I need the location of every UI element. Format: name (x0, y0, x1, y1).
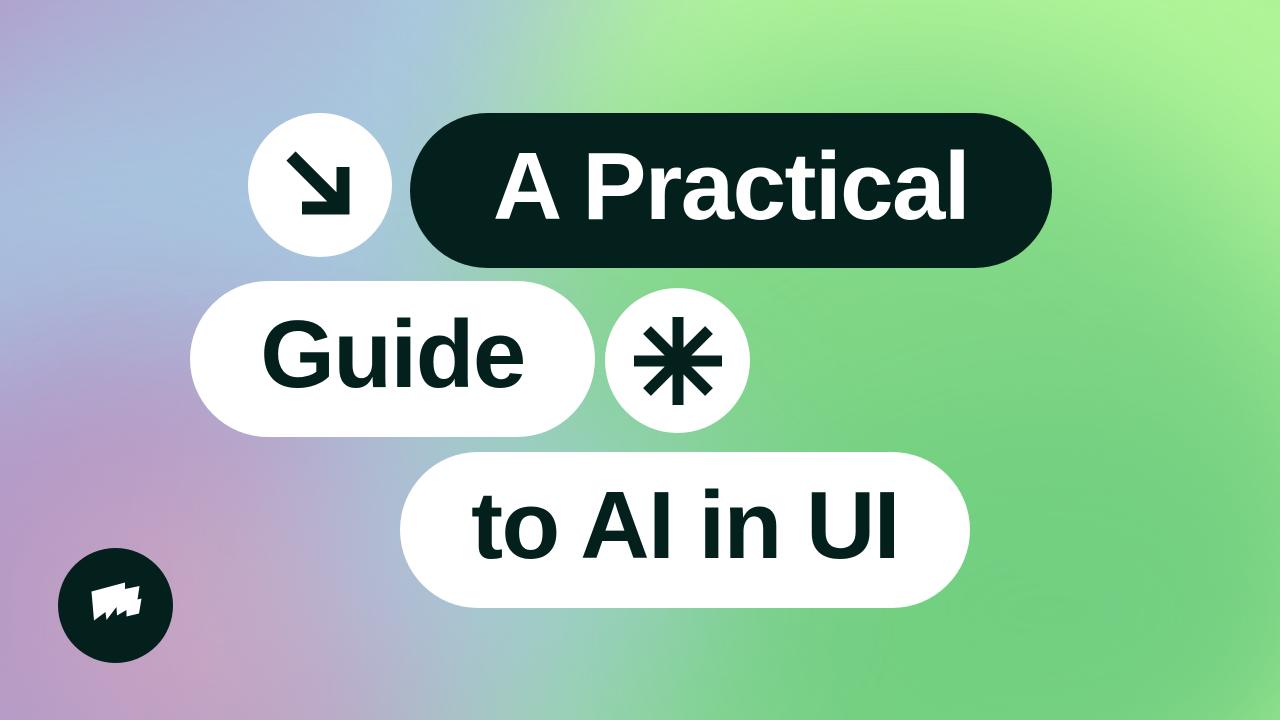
headline-line-2: Guide (190, 281, 595, 437)
lightning-bolt-icon (83, 573, 149, 639)
headline-line-3-text: to AI in UI (471, 478, 899, 574)
poster-canvas: A Practical Guide to AI in UI (0, 0, 1280, 720)
headline-line-1-text: A Practical (493, 139, 969, 235)
asterisk-badge (605, 288, 750, 433)
arrow-down-right-badge (248, 113, 392, 257)
headline-line-1: A Practical (410, 113, 1052, 268)
headline-line-2-text: Guide (260, 307, 525, 403)
headline-line-3: to AI in UI (400, 452, 970, 608)
arrow-down-right-icon (277, 142, 363, 228)
asterisk-icon (630, 313, 726, 409)
brand-logo[interactable] (58, 548, 173, 663)
